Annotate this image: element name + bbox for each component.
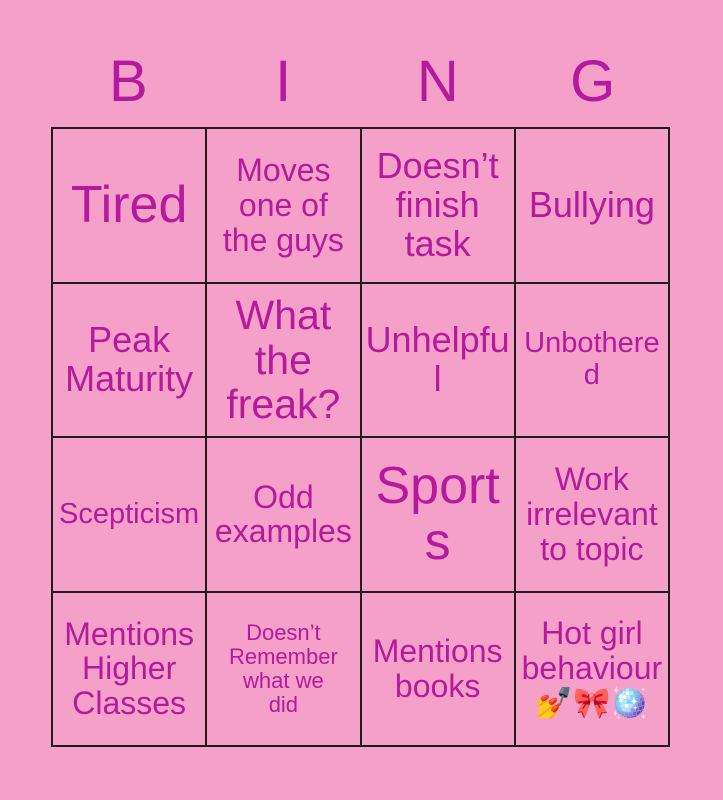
header-letter-b: B [51,46,206,118]
bingo-cell-label: Odd examples [211,480,355,549]
bingo-cell[interactable]: Unbothered [516,284,670,439]
bingo-cell[interactable]: What the freak? [207,284,361,439]
bingo-cell-label: Doesn’t Remember what we did [211,621,355,716]
bingo-header-row: B I N G [51,46,670,118]
bingo-cell[interactable]: Hot girl behaviour 💅🎀🪩 [516,593,670,748]
bingo-cell-label: Unbothered [520,328,664,391]
header-letter-g: G [515,46,670,118]
header-letter-n: N [361,46,516,118]
bingo-cell-label: Mentions books [366,634,510,703]
bingo-cell-label: Tired [57,177,201,233]
bingo-cell-label: Doesn’t finish task [366,147,510,264]
bingo-cell[interactable]: Mentions Higher Classes [53,593,207,748]
bingo-cell[interactable]: Mentions books [362,593,516,748]
bingo-cell-text: Hot girl behaviour [522,615,663,686]
header-letter-i: I [206,46,361,118]
bingo-cell-label: Bullying [520,186,664,225]
bingo-cell-label: Hot girl behaviour 💅🎀🪩 [520,593,664,748]
bingo-grid: Tired Moves one of the guys Doesn’t fini… [51,127,670,747]
bingo-cell-label: Peak Maturity [57,321,201,399]
bingo-cell[interactable]: Unhelpful [362,284,516,439]
bingo-cell[interactable]: Scepticism [53,438,207,593]
bingo-cell-label: Work irrelevant to topic [520,462,664,566]
bingo-cell[interactable]: Tired [53,129,207,284]
bingo-cell[interactable]: Doesn’t finish task [362,129,516,284]
bingo-cell-label: Unhelpful [366,321,510,399]
bingo-cell-label: What the freak? [211,293,355,426]
bingo-cell-label: Scepticism [57,499,201,530]
bingo-cell-label: Sports [366,458,510,570]
bingo-cell-label: Moves one of the guys [211,153,355,257]
bingo-card: B I N G Tired Moves one of the guys Does… [0,0,723,800]
bingo-cell[interactable]: Work irrelevant to topic [516,438,670,593]
bingo-cell[interactable]: Doesn’t Remember what we did [207,593,361,748]
bingo-cell[interactable]: Odd examples [207,438,361,593]
bingo-cell[interactable]: Sports [362,438,516,593]
bingo-cell[interactable]: Bullying [516,129,670,284]
bingo-cell[interactable]: Peak Maturity [53,284,207,439]
bingo-cell[interactable]: Moves one of the guys [207,129,361,284]
hot-girl-emoji-icon: 💅🎀🪩 [520,687,664,722]
bingo-cell-label: Mentions Higher Classes [57,617,201,721]
